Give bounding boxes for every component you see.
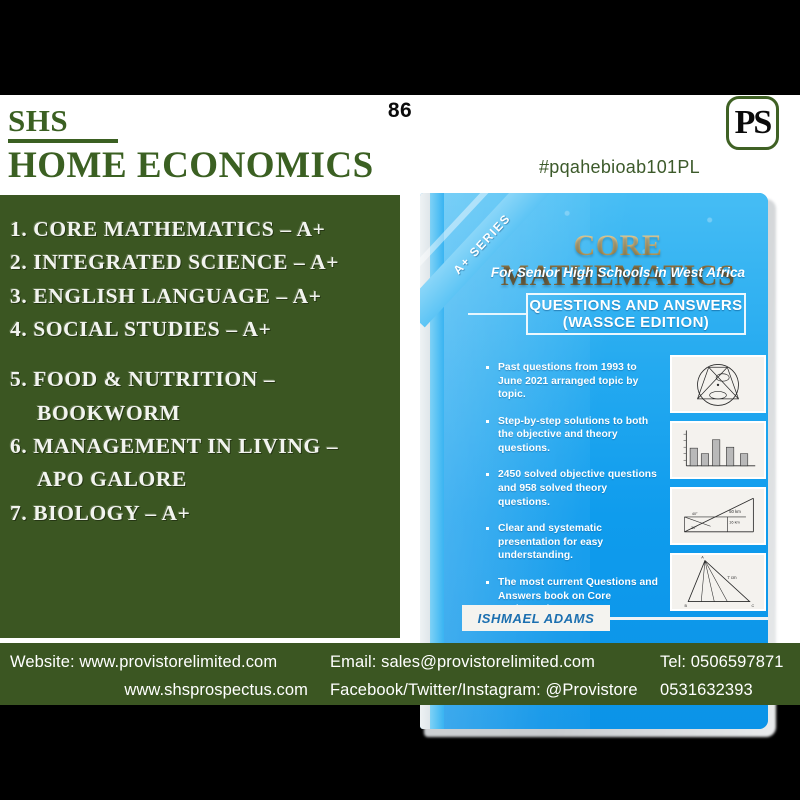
footer-social: Facebook/Twitter/Instagram: @Provistore	[330, 681, 660, 700]
author-rule	[610, 617, 768, 620]
svg-text:50 km: 50 km	[729, 509, 741, 514]
subject-item: 5. FOOD & NUTRITION –	[10, 363, 390, 396]
subject-item: 4. SOCIAL STUDIES – A+	[10, 313, 390, 346]
footer-website: Website: www.provistorelimited.com	[0, 653, 330, 672]
hashtag-label: #pqahebioab101PL	[539, 157, 700, 178]
poster-page: 86 SHS HOME ECONOMICS #pqahebioab101PL P…	[0, 0, 800, 800]
footer-row-1: Website: www.provistorelimited.com Email…	[0, 648, 800, 676]
footer-row-2: www.shsprospectus.com Facebook/Twitter/I…	[0, 676, 800, 704]
cover-bullet: Past questions from 1993 to June 2021 ar…	[484, 361, 659, 402]
trigonometry-svg: 50 km 16 km 40° 30°	[672, 489, 764, 543]
poster-canvas: 86 SHS HOME ECONOMICS #pqahebioab101PL P…	[0, 95, 800, 705]
badge-connector-line	[468, 313, 526, 315]
trigonometry-elevation-diagram: 50 km 16 km 40° 30°	[670, 487, 766, 545]
svg-text:B: B	[684, 604, 687, 608]
contact-footer: Website: www.provistorelimited.com Email…	[0, 643, 800, 705]
svg-text:30°: 30°	[691, 526, 697, 530]
edition-badge: QUESTIONS AND ANSWERS (WASSCE EDITION)	[526, 293, 746, 335]
circle-geometry-diagram	[670, 355, 766, 413]
author-name: ISHMAEL ADAMS	[478, 611, 595, 626]
subject-item: 3. ENGLISH LANGUAGE – A+	[10, 280, 390, 313]
triangle-svg: 7 cm A B C	[672, 555, 764, 609]
cover-bullet-list: Past questions from 1993 to June 2021 ar…	[484, 361, 659, 630]
book-title: CORE MATHEMATICS	[462, 231, 768, 291]
subject-item-continuation: BOOKWORM	[10, 397, 390, 430]
book-subtitle: For Senior High Schools in West Africa	[462, 265, 768, 280]
subjects-panel: 1. CORE MATHEMATICS – A+ 2. INTEGRATED S…	[0, 195, 400, 638]
subject-item-continuation: APO GALORE	[10, 463, 390, 496]
edition-badge-line2: (WASSCE EDITION)	[563, 314, 709, 331]
svg-text:7 cm: 7 cm	[727, 575, 737, 580]
subject-item: 1. CORE MATHEMATICS – A+	[10, 213, 390, 246]
cover-bullet: Clear and systematic presentation for ea…	[484, 522, 659, 563]
title-subject: HOME ECONOMICS	[8, 146, 374, 187]
list-spacer	[10, 346, 390, 363]
bar-chart-svg	[672, 423, 764, 477]
svg-text:C: C	[752, 604, 755, 608]
svg-text:A: A	[701, 555, 704, 559]
subject-item: 2. INTEGRATED SCIENCE – A+	[10, 246, 390, 279]
cover-bullet: Step-by-step solutions to both the objec…	[484, 415, 659, 456]
bar-chart-diagram	[670, 421, 766, 479]
footer-website-2: www.shsprospectus.com	[0, 681, 330, 700]
page-title: SHS HOME ECONOMICS	[8, 105, 374, 186]
svg-text:16 km: 16 km	[729, 519, 740, 524]
triangle-construction-diagram: 7 cm A B C	[670, 553, 766, 611]
title-shs: SHS	[8, 105, 118, 143]
subject-item: 7. BIOLOGY – A+	[10, 497, 390, 530]
footer-tel: Tel: 0506597871	[660, 653, 800, 672]
provistore-logo: PS	[726, 96, 779, 150]
logo-monogram: PS	[735, 106, 771, 140]
cover-diagram-thumbnails: 50 km 16 km 40° 30° 7 cm A	[670, 355, 766, 619]
circle-geometry-svg	[672, 357, 764, 411]
edition-badge-line1: QUESTIONS AND ANSWERS	[529, 297, 742, 314]
subject-item: 6. MANAGEMENT IN LIVING –	[10, 430, 390, 463]
letterbox-top	[0, 0, 800, 95]
footer-tel-2: 0531632393	[660, 681, 800, 700]
svg-text:40°: 40°	[692, 512, 698, 516]
cover-bullet: 2450 solved objective questions and 958 …	[484, 468, 659, 509]
author-plate: ISHMAEL ADAMS	[462, 605, 610, 631]
footer-email: Email: sales@provistorelimited.com	[330, 653, 660, 672]
